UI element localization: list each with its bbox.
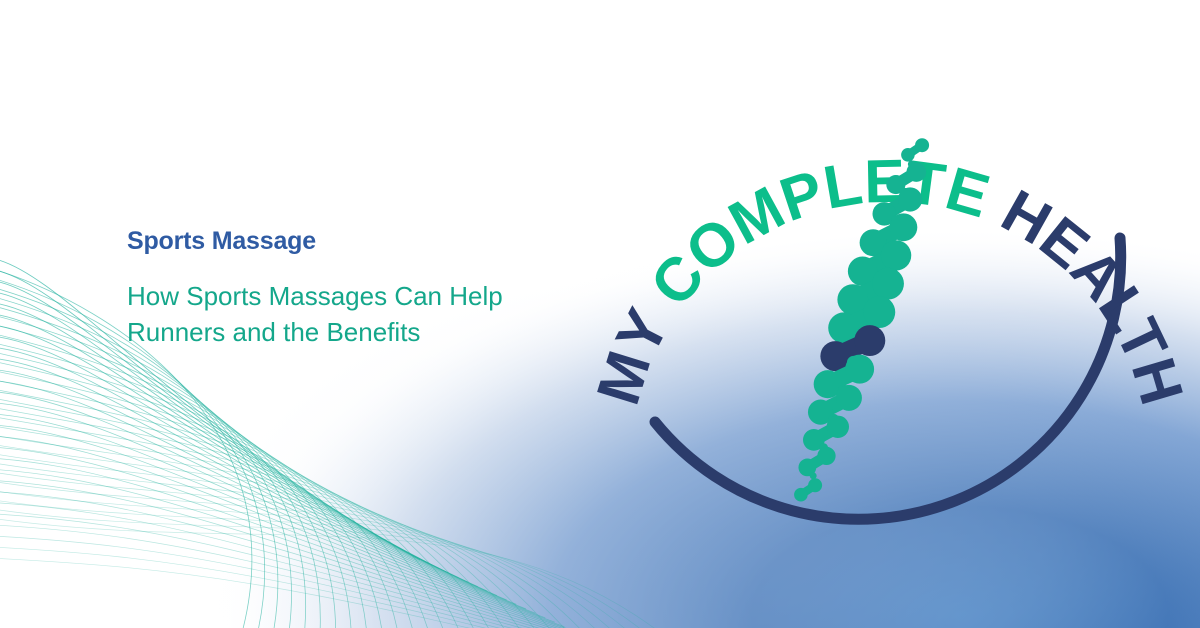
- spine-vertebra-lobe: [854, 325, 885, 356]
- wave-line: [0, 370, 415, 628]
- spine-vertebra-lobe: [901, 148, 915, 162]
- wave-line: [0, 502, 632, 628]
- wave-line: [0, 398, 463, 628]
- wave-line: [0, 500, 638, 628]
- spine-vertebra-lobe: [915, 138, 929, 152]
- page-subtitle: How Sports Massages Can Help Runners and…: [127, 278, 547, 352]
- spine-vertebra-lobe: [836, 385, 862, 411]
- wave-line: [0, 388, 447, 628]
- wave-line: [0, 462, 574, 628]
- wave-line: [0, 447, 584, 628]
- text-block: Sports Massage How Sports Massages Can H…: [127, 228, 567, 351]
- wave-line: [0, 347, 497, 596]
- spine-vertebra-lobe: [863, 296, 895, 328]
- wave-line: [0, 324, 336, 628]
- spine-vertebra-lobe: [808, 478, 822, 492]
- banner-root: Sports Massage How Sports Massages Can H…: [0, 0, 1200, 628]
- wave-line: [0, 325, 478, 587]
- wave-line: [0, 436, 574, 628]
- wave-line: [0, 469, 603, 628]
- wave-line: [0, 491, 622, 628]
- wave-line: [0, 472, 590, 628]
- wave-line: [0, 314, 468, 583]
- spine-vertebra-lobe: [827, 416, 849, 438]
- wave-line: [0, 369, 516, 604]
- wave-line: [0, 458, 593, 628]
- wave-line: [0, 416, 495, 628]
- spine-vertebra-lobe: [845, 355, 874, 384]
- wave-line: [0, 305, 306, 628]
- wave-line: [0, 414, 555, 623]
- logo-word-complete: COMPLETE: [637, 147, 997, 319]
- spine-vertebra-lobe: [881, 240, 911, 270]
- wave-line: [0, 342, 367, 628]
- wave-line: [0, 407, 479, 628]
- wave-line: [0, 425, 564, 627]
- spine-vertebra-lobe: [906, 162, 926, 182]
- wave-line: [0, 379, 431, 628]
- spine-vertebra-lobe: [794, 488, 808, 502]
- wave-line: [0, 435, 527, 628]
- wave-line: [0, 380, 526, 609]
- spine-satellite-dot: [810, 472, 817, 479]
- wave-line: [0, 361, 399, 628]
- wave-line: [0, 391, 536, 613]
- spine-vertebra-lobe: [898, 187, 922, 211]
- wave-line: [0, 358, 507, 600]
- wave-line: [0, 525, 651, 628]
- my-complete-health-logo: MY COMPLETE HEALTH: [560, 0, 1200, 628]
- wave-line: [0, 509, 654, 628]
- wave-line: [0, 490, 622, 628]
- spine-vertebra-lobe: [872, 268, 904, 300]
- wave-line: [0, 425, 511, 628]
- wave-line: [0, 351, 383, 628]
- spine-vertebra-lobe: [817, 447, 835, 465]
- wave-line: [0, 481, 606, 628]
- wave-line: [0, 444, 543, 628]
- wave-line: [0, 514, 642, 628]
- wave-line: [0, 333, 352, 628]
- wave-line: [0, 336, 487, 591]
- wave-line: [0, 480, 613, 628]
- page-title: Sports Massage: [127, 228, 567, 256]
- wave-line: [0, 453, 559, 628]
- spine-vertebra-lobe: [889, 213, 917, 241]
- wave-line: [0, 402, 545, 617]
- wave-line: [0, 314, 320, 628]
